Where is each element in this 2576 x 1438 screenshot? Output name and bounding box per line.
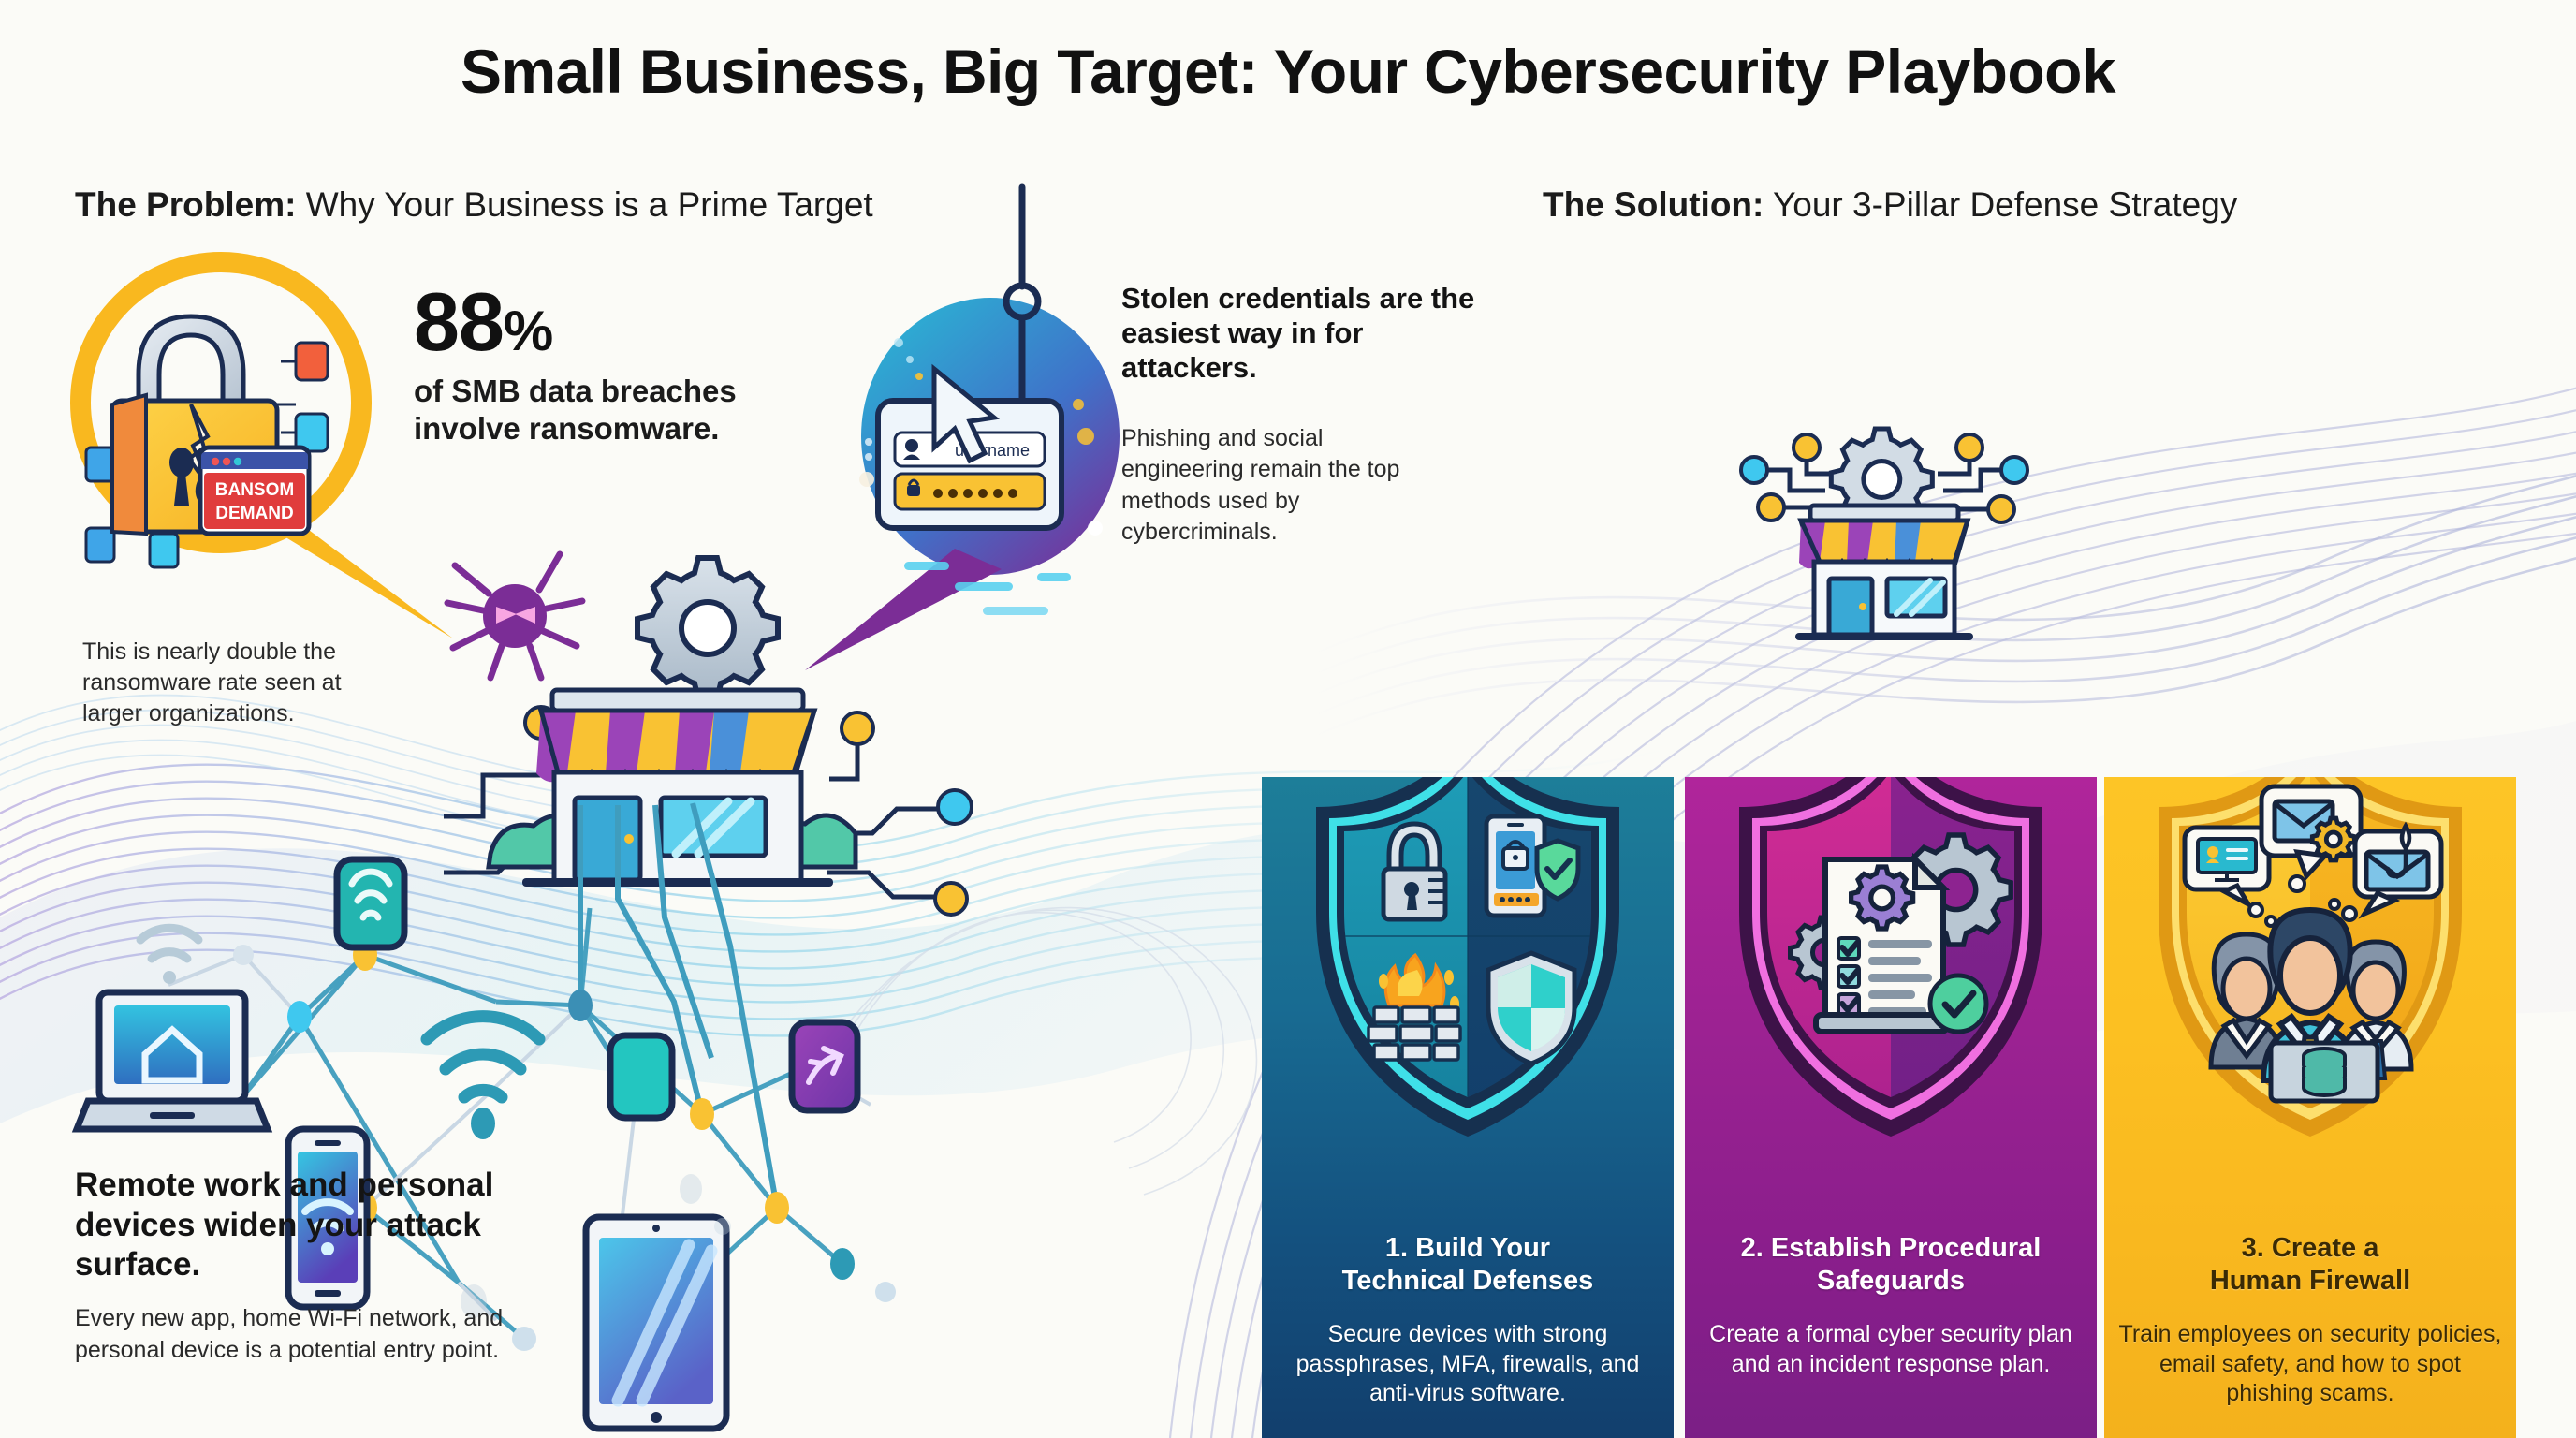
ransom-badge-line1: BANSOM xyxy=(215,480,294,500)
ransom-badge-line2: DEMAND xyxy=(215,504,293,523)
pillar-1-description: Secure devices with strong passphrases, … xyxy=(1262,1320,1674,1409)
laptop-device-icon xyxy=(77,992,268,1129)
laptop-database-icon xyxy=(2271,1043,2378,1101)
solution-section-heading: The Solution: Your 3-Pillar Defense Stra… xyxy=(1543,185,2237,225)
page-title: Small Business, Big Target: Your Cyberse… xyxy=(0,36,2576,107)
pillar-2-description: Create a formal cyber security plan and … xyxy=(1685,1320,2097,1379)
pillar-card-procedural-safeguards[interactable]: 2. Establish Procedural Safeguards Creat… xyxy=(1685,777,2097,1438)
shield-technical-defenses xyxy=(1309,777,1627,1140)
solution-label: The Solution: xyxy=(1543,185,1764,224)
remote-work-body: Every new app, home Wi-Fi network, and p… xyxy=(75,1303,580,1366)
ransomware-stat-caption: of SMB data breaches involve ransomware. xyxy=(414,373,844,448)
malware-bug-icon xyxy=(447,554,582,678)
pillar-card-human-firewall[interactable]: 3. Create a Human Firewall Train employe… xyxy=(2104,777,2516,1438)
solution-subtitle: Your 3-Pillar Defense Strategy xyxy=(1773,185,2237,224)
ransom-demand-window: BANSOM DEMAND xyxy=(200,448,309,534)
problem-section-heading: The Problem: Why Your Business is a Prim… xyxy=(75,185,873,225)
tablet-device-icon xyxy=(586,1217,726,1429)
pillar-card-technical-defenses[interactable]: 1. Build Your Technical Defenses Secure … xyxy=(1262,777,1674,1438)
pillar-3-title: 3. Create a Human Firewall xyxy=(2104,1232,2516,1298)
shield-human-firewall xyxy=(2151,777,2469,1140)
shop-building xyxy=(1795,506,1973,640)
ransomware-stat-number: 88% xyxy=(414,281,552,363)
wifi-dot xyxy=(471,1108,495,1139)
infographic-canvas: Small Business, Big Target: Your Cyberse… xyxy=(0,0,2576,1438)
pillar-1-title: 1. Build Your Technical Defenses xyxy=(1262,1232,1674,1298)
credentials-body: Phishing and social engineering remain t… xyxy=(1121,423,1402,548)
problem-label: The Problem: xyxy=(75,185,296,224)
purple-app-tile-icon xyxy=(792,1022,857,1110)
wifi-small-icon xyxy=(140,928,198,959)
ransomware-note: This is nearly double the ransomware rat… xyxy=(82,637,363,729)
cloud-app-tile-icon xyxy=(337,859,404,947)
wifi-icon xyxy=(427,1017,539,1097)
gear-icon-doc xyxy=(1851,867,1913,929)
credentials-headline: Stolen credentials are the easiest way i… xyxy=(1121,281,1477,386)
remote-work-headline: Remote work and personal devices widen y… xyxy=(75,1166,562,1285)
pillar-3-description: Train employees on security policies, em… xyxy=(2104,1320,2516,1409)
shield-icon xyxy=(1488,953,1574,1064)
pillar-2-title: 2. Establish Procedural Safeguards xyxy=(1685,1232,2097,1298)
wifi-small-dot xyxy=(163,971,176,984)
gear-icon xyxy=(637,558,778,698)
problem-subtitle: Why Your Business is a Prime Target xyxy=(306,185,873,224)
solution-shop-illustration xyxy=(1713,412,2050,712)
network-tile-icon xyxy=(610,1035,672,1118)
shop-links xyxy=(580,803,777,1208)
shield-procedural-safeguards xyxy=(1732,777,2050,1140)
check-circle-icon xyxy=(1930,976,1986,1032)
